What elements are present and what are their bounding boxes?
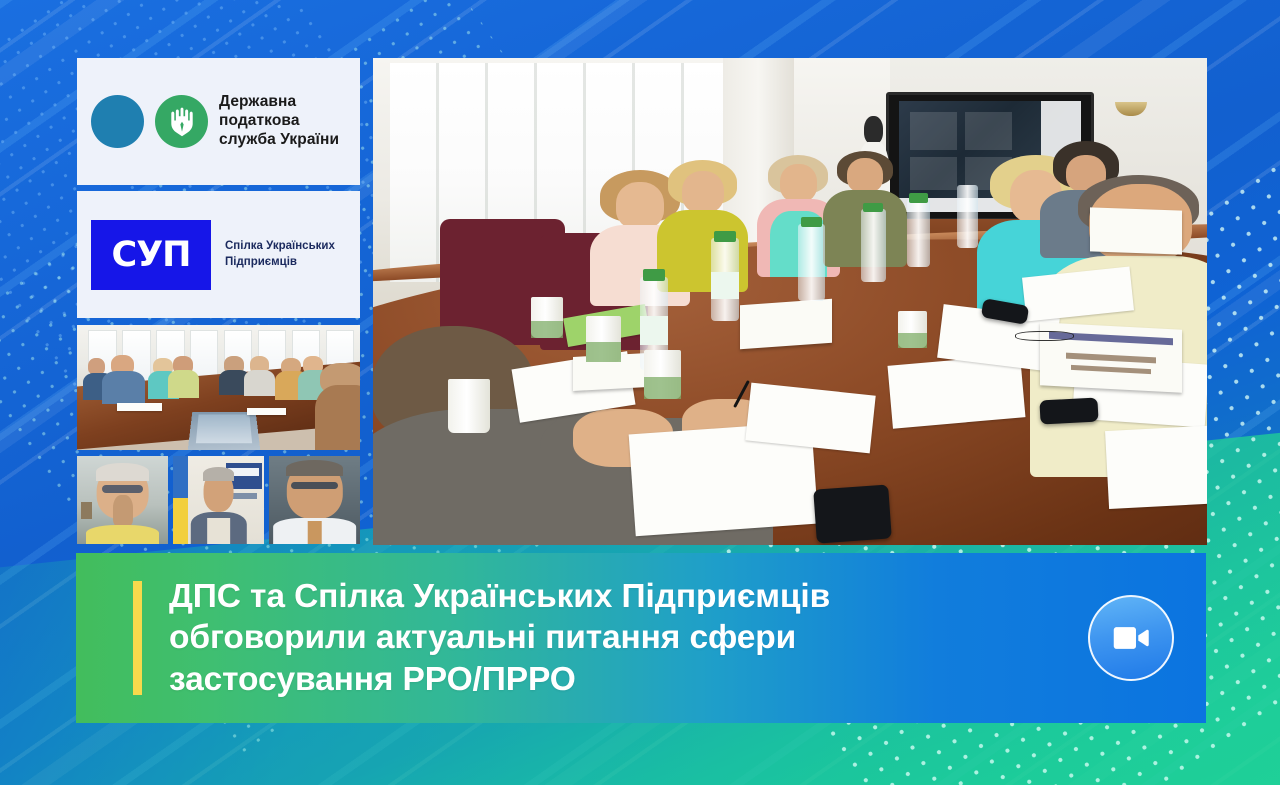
sup-logo-card: СУП Спілка Українських Підприємців bbox=[77, 191, 360, 318]
dps-logo-card: Державна податкова служба України bbox=[77, 58, 360, 185]
video-call-tile-3 bbox=[269, 456, 360, 544]
video-call-tiles bbox=[77, 456, 360, 544]
ukrainian-trident-icon bbox=[155, 95, 208, 148]
meeting-room-thumbnail-image bbox=[77, 325, 360, 450]
eyeglasses-icon bbox=[1015, 331, 1073, 342]
water-bottle bbox=[798, 224, 825, 302]
video-camera-icon[interactable] bbox=[1088, 595, 1174, 681]
paper-cup bbox=[448, 379, 490, 433]
paper-cup bbox=[644, 350, 681, 399]
headline-banner: ДПС та Спілка Українських Підприємців об… bbox=[76, 553, 1206, 723]
smartphone-icon bbox=[1040, 397, 1100, 424]
paper-cup bbox=[586, 316, 621, 362]
paper-cup bbox=[898, 311, 926, 348]
water-bottle bbox=[907, 199, 930, 267]
table-nameplate bbox=[740, 298, 832, 348]
dps-blue-circle-icon bbox=[91, 95, 144, 148]
main-meeting-photo bbox=[373, 58, 1207, 545]
meeting-room-thumbnail bbox=[77, 325, 360, 450]
sup-logo-title: Спілка Українських Підприємців bbox=[225, 239, 335, 269]
dps-logo-title: Державна податкова служба України bbox=[219, 93, 339, 150]
paper-cup bbox=[531, 297, 563, 338]
page-title: ДПС та Спілка Українських Підприємців об… bbox=[169, 576, 830, 700]
accent-bar bbox=[133, 581, 142, 695]
smartphone-icon bbox=[813, 484, 892, 543]
sup-logo-mark: СУП bbox=[91, 220, 211, 290]
water-bottle bbox=[957, 185, 979, 248]
laptop-icon bbox=[187, 412, 260, 450]
video-call-tile-1 bbox=[77, 456, 168, 544]
table-nameplate bbox=[1090, 207, 1182, 254]
video-call-tile-2 bbox=[173, 456, 264, 544]
water-bottle bbox=[861, 209, 886, 282]
sup-logo-mark-text: СУП bbox=[112, 235, 191, 275]
